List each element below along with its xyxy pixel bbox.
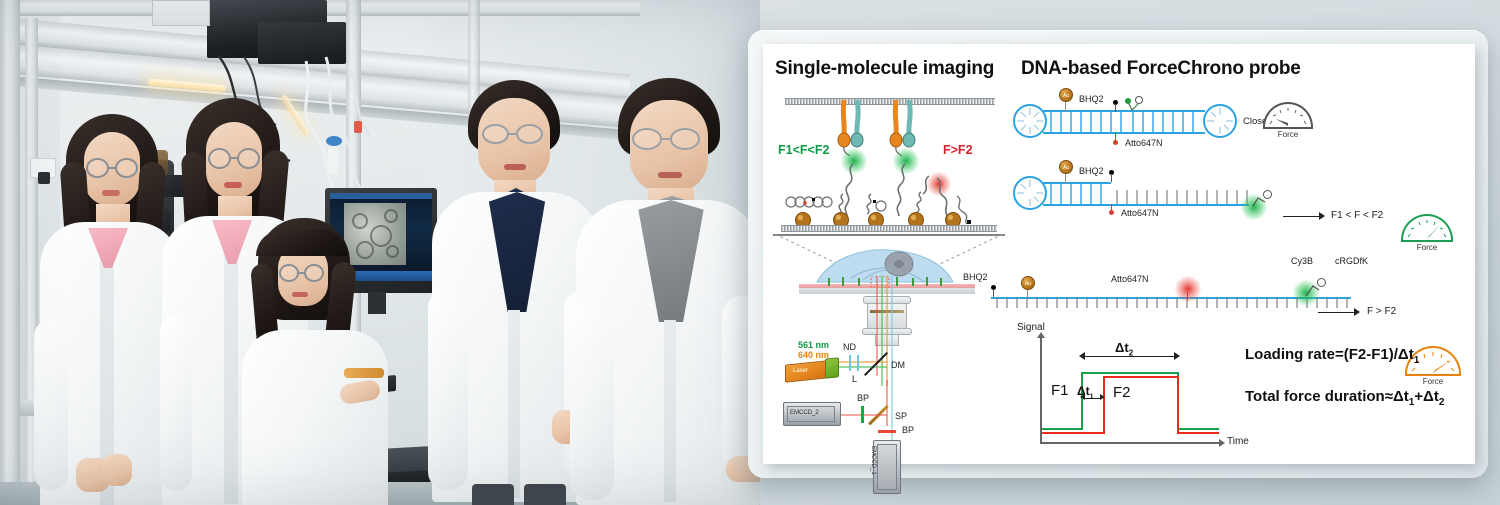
lens-label: L xyxy=(852,374,857,384)
plot-label-f2: F2 xyxy=(1113,384,1131,401)
force-gauge-3-label: Force xyxy=(1403,377,1463,386)
force-gauge-2-label: Force xyxy=(1399,243,1455,252)
force-arrow-2 xyxy=(1283,216,1319,217)
photo-enclosure-post-left xyxy=(0,0,20,505)
trace-f2-plateau xyxy=(1103,376,1179,378)
probe-1-closed: Au BHQ2 Atto647N Close xyxy=(1013,96,1263,152)
trace-f1-baseline xyxy=(1042,428,1082,430)
trace-f1-plateau xyxy=(1081,372,1179,374)
delta-t1-label: Δt1 xyxy=(1077,384,1094,400)
bhq2-label-1: BHQ2 xyxy=(1079,94,1104,104)
slide-receptors xyxy=(823,276,953,288)
trace-f2-fall xyxy=(1177,376,1179,434)
gold-nanoparticle-2: Au xyxy=(1059,160,1073,174)
force-condition-3: F > F2 xyxy=(1367,306,1396,317)
emccd-1-label: EMCCD_1 xyxy=(870,446,876,475)
beam-orange-vertical xyxy=(886,276,888,386)
probe-2-partial: Au BHQ2 Atto647N xyxy=(1013,166,1293,226)
atto647n-dot-1 xyxy=(1113,140,1118,145)
emission-beam-left xyxy=(841,414,887,416)
gold-nanoparticle-1: Au xyxy=(1059,88,1073,102)
plot-x-axis-label: Time xyxy=(1227,436,1249,447)
atto647n-dot-2 xyxy=(1109,210,1114,215)
trace-f1-rise xyxy=(1081,372,1083,430)
nd-filter-2 xyxy=(857,355,859,371)
photo-person-5 xyxy=(576,78,760,505)
equation-loading-rate: Loading rate=(F2-F1)/Δt1 xyxy=(1245,346,1419,366)
force-arrow-3 xyxy=(1318,312,1354,313)
beam-green-horizontal xyxy=(839,366,887,368)
force-gauge-1-label: Force xyxy=(1261,130,1315,139)
laser-source-green-end xyxy=(825,357,839,378)
nd-filter-1 xyxy=(849,355,851,371)
photo-shelf-white-unit xyxy=(152,0,210,26)
laser-wavelength-2: 640 nm xyxy=(798,350,829,360)
bhq2-label-3: BHQ2 xyxy=(963,272,988,282)
emccd-2-label: EMCCD_2 xyxy=(790,410,819,416)
trace-f2-baseline xyxy=(1042,432,1104,434)
annotation-high-force: F>F2 xyxy=(943,143,973,157)
force-condition-2: F1 < F < F2 xyxy=(1331,210,1383,221)
signal-plot: Signal Time Δt2 xyxy=(1015,322,1245,460)
lower-membrane xyxy=(781,225,997,232)
left-panel-title: Single-molecule imaging xyxy=(775,58,994,80)
emission-beam-down xyxy=(886,380,888,426)
emccd-1-body xyxy=(877,444,897,490)
laser-wavelength-1: 561 nm xyxy=(798,340,829,350)
force-gauge-2: Force xyxy=(1399,214,1459,260)
right-panel-title: DNA-based ForceChrono probe xyxy=(1021,58,1301,80)
annotation-low-force: F1<F<F2 xyxy=(778,143,829,157)
sp-label: SP xyxy=(895,411,907,421)
cy3b-label-3: Cy3B xyxy=(1291,256,1313,266)
crgdfk-label-3: cRGDfK xyxy=(1335,256,1368,266)
bp-label-2: BP xyxy=(902,425,914,435)
force-gauge-1: Force xyxy=(1261,102,1317,144)
photo-person-3-seated xyxy=(248,218,384,505)
plot-label-f1: F1 xyxy=(1051,382,1069,399)
equation-force-duration: Total force duration≈Δt1+Δt2 xyxy=(1245,388,1444,408)
dm-label: DM xyxy=(891,360,905,370)
lab-group-photograph xyxy=(0,0,760,505)
laser-label: Laser xyxy=(793,368,808,374)
figure-composite: Single-molecule imaging DNA-based ForceC… xyxy=(0,0,1500,505)
substrate-probe-row xyxy=(781,190,997,230)
gold-nanoparticle-3: Au xyxy=(1021,276,1035,290)
bp-label-1: BP xyxy=(857,393,869,403)
trace-f2-tail xyxy=(1177,432,1219,434)
atto647n-label-2: Atto647N xyxy=(1121,208,1159,218)
bandpass-filter-2 xyxy=(878,430,896,433)
delta-t2-label: Δt2 xyxy=(1115,340,1133,358)
probe-3-open: BHQ2 Au xyxy=(963,252,1383,312)
bhq2-label-2: BHQ2 xyxy=(1079,166,1104,176)
atto647n-label-3: Atto647N xyxy=(1111,274,1149,284)
force-arrow-head-3 xyxy=(1354,308,1360,316)
trace-f1-tail xyxy=(1177,428,1219,430)
beam-green-vertical xyxy=(881,276,883,386)
nd-label: ND xyxy=(843,342,856,352)
force-arrow-head-2 xyxy=(1319,212,1325,220)
trace-f2-rise xyxy=(1103,376,1105,434)
atto647n-label-1: Atto647N xyxy=(1125,138,1163,148)
figure-card: Single-molecule imaging DNA-based ForceC… xyxy=(763,44,1475,464)
bandpass-filter-1 xyxy=(861,406,864,423)
